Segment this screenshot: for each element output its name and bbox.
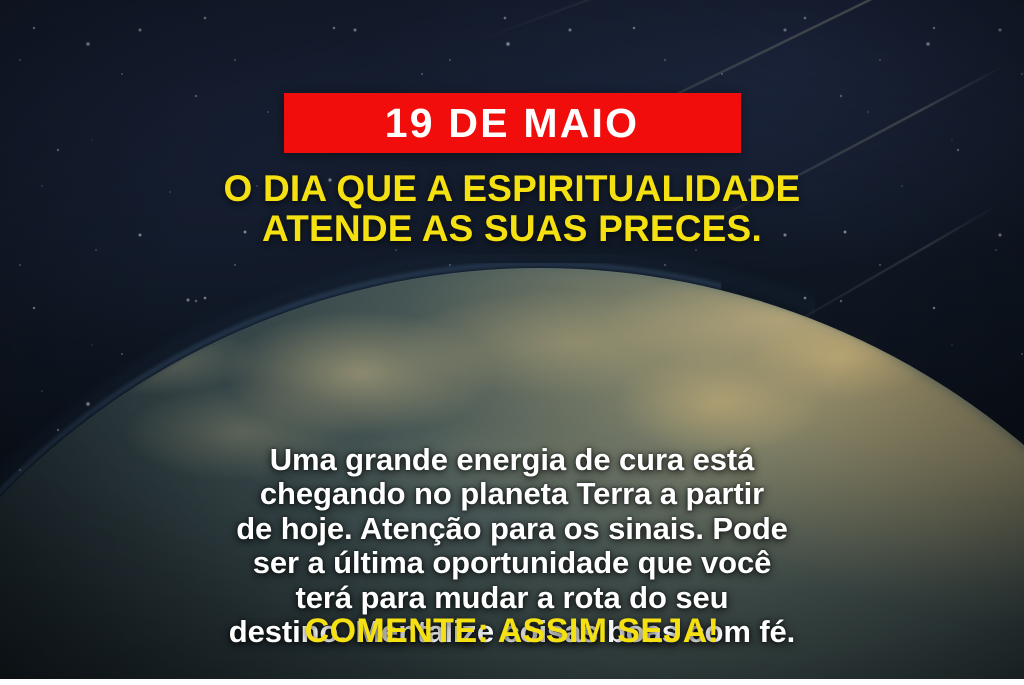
body-line: ser a última oportunidade que você (62, 546, 962, 580)
body-line: chegando no planeta Terra a partir (62, 477, 962, 511)
call-to-action-text: COMENTE: ASSIM SEJA! (305, 612, 720, 651)
headline-line-1: O DIA QUE A ESPIRITUALIDADE (224, 168, 801, 209)
devotional-poster: 19 DE MAIO O DIA QUE A ESPIRITUALIDADE A… (0, 0, 1024, 685)
footer-strip (0, 679, 1024, 685)
date-banner-text: 19 DE MAIO (385, 103, 639, 144)
headline-line-2: ATENDE AS SUAS PRECES. (224, 209, 801, 249)
headline: O DIA QUE A ESPIRITUALIDADE ATENDE AS SU… (224, 169, 801, 248)
date-banner: 19 DE MAIO (284, 93, 741, 153)
body-line: terá para mudar a rota do seu (62, 581, 962, 615)
body-line: de hoje. Atenção para os sinais. Pode (62, 512, 962, 546)
poster-content: 19 DE MAIO O DIA QUE A ESPIRITUALIDADE A… (0, 0, 1024, 685)
body-line: Uma grande energia de cura está (62, 443, 962, 477)
